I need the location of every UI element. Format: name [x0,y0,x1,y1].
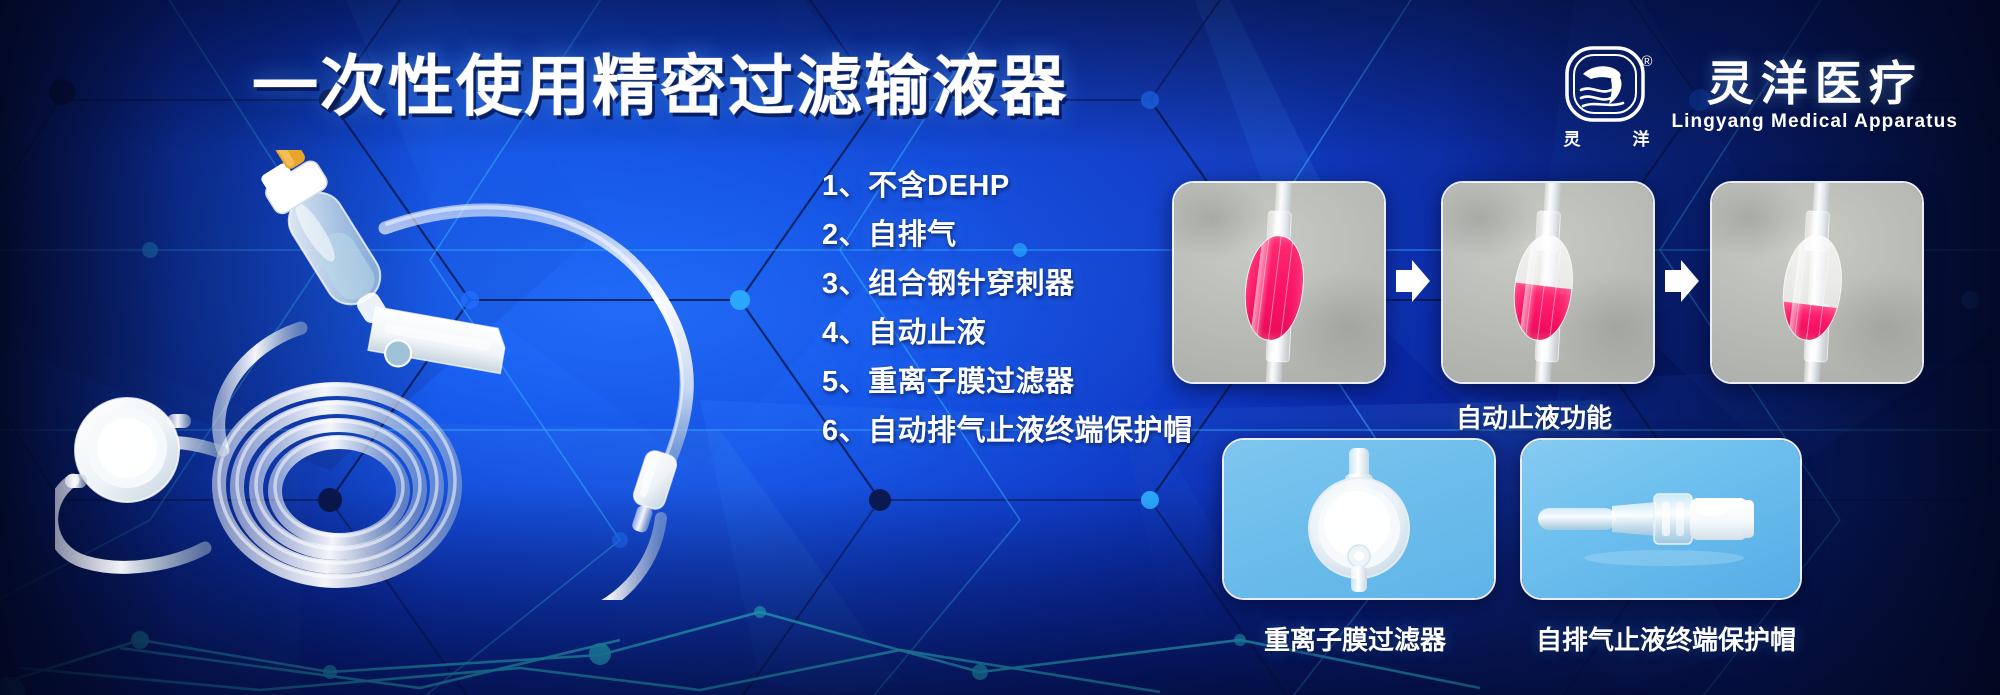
stopflow-frame-3 [1710,181,1924,384]
brand-name-cn: 灵洋医疗 [1707,59,1923,108]
emblem-subtitle: 灵 洋 [1563,125,1649,150]
brand-logo: ® 灵 洋 灵洋医疗 Lingyang Medical Apparatus [1563,44,1958,148]
product-panel-filter [1222,438,1496,600]
product-panel-terminal-cap [1520,438,1802,600]
product-photo-infusion-set [55,150,755,600]
stopflow-frame-1 [1172,181,1386,384]
promotional-banner: 一次性使用精密过滤输液器 ® 灵 洋 [0,0,2000,695]
caption-auto-stop-flow: 自动止液功能 [1456,405,1612,431]
caption-heavy-ion-filter: 重离子膜过滤器 [1264,627,1446,653]
emblem-char-left: 灵 [1563,125,1580,150]
brand-name-block: 灵洋医疗 Lingyang Medical Apparatus [1671,59,1958,132]
feature-item-6: 6、自动排气止液终端保护帽 [822,417,1242,466]
caption-terminal-cap: 自排气止液终端保护帽 [1536,627,1796,653]
page-title: 一次性使用精密过滤输液器 [252,48,1068,124]
terminal-cap-graphic [1536,464,1786,574]
registered-trademark-icon: ® [1641,54,1652,69]
heavy-ion-filter-graphic [1279,444,1439,594]
sequence-arrow-1 [1396,258,1430,304]
lingyang-emblem-icon: ® 灵 洋 [1563,44,1649,148]
sequence-arrow-2 [1665,258,1699,304]
emblem-char-right: 洋 [1632,125,1649,150]
stopflow-frame-2 [1441,181,1655,384]
brand-name-en: Lingyang Medical Apparatus [1671,111,1958,133]
